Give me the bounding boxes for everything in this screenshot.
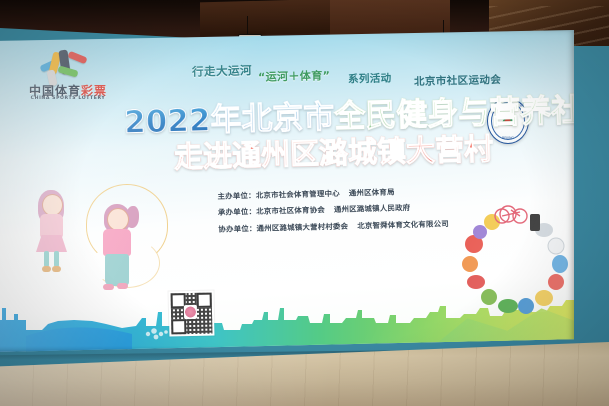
event-banner: 中国体育彩票 CHINA SPORTS LOTTERY 北京市社区运动会 BEI… <box>0 30 574 352</box>
kicker-walk-canal: 行走大运河 <box>192 62 252 79</box>
girl-top <box>103 229 131 256</box>
organizer-row: 承办单位：北京市社区体育协会通州区潞城镇人民政府 <box>218 202 449 219</box>
girl-shoe <box>103 284 114 290</box>
girl-pants <box>105 254 129 286</box>
organizer-value-2: 通州区体育局 <box>349 187 395 197</box>
girl-shoe <box>42 266 51 272</box>
organizer-label: 主办单位： <box>217 191 255 201</box>
screenshot-root: 中国体育彩票 CHINA SPORTS LOTTERY 北京市社区运动会 BEI… <box>0 0 609 406</box>
girl-face <box>42 194 63 216</box>
qr-pattern <box>171 293 213 335</box>
girl-shoe <box>52 266 61 272</box>
organizer-value-1: 北京市社区体育协会 <box>256 206 325 217</box>
organizer-label: 承办单位： <box>218 207 256 217</box>
banner-kicker-row: 行走大运河 “运河＋体育” 系列活动 北京市社区运动会 <box>0 63 574 87</box>
organizer-row: 协办单位：通州区潞城镇大营村村委会北京智舜体育文化有限公司 <box>218 218 449 235</box>
wechat-qr-code[interactable] <box>169 291 215 337</box>
kicker-series-activity: 系列活动 <box>348 71 392 87</box>
girl-jumping-rope <box>90 184 164 310</box>
organizer-value-1: 通州区潞城镇大营村村委会 <box>256 221 348 232</box>
kicker-canal-sports: “运河＋体育” <box>258 67 331 85</box>
qr-logo-center <box>184 305 197 319</box>
girl-face <box>107 208 129 231</box>
banner-title-line-2: 走进通州区潞城镇大营村 <box>174 126 494 176</box>
healthy-living-ring <box>456 202 574 320</box>
organizer-value-2: 通州区潞城镇人民政府 <box>334 204 411 215</box>
logo-english-text: CHINA SPORTS LOTTERY <box>24 96 112 101</box>
emblem-bottom-text: BEIJING <box>488 136 528 140</box>
qr-finder-pattern <box>197 293 212 308</box>
organizer-block: 主办单位：北京市社会体育管理中心通州区体育局 承办单位：北京市社区体育协会通州区… <box>217 185 449 240</box>
organizer-value-2: 北京智舜体育文化有限公司 <box>357 219 449 230</box>
girl-leg <box>44 251 49 267</box>
girl-leg <box>54 251 59 267</box>
qr-finder-pattern <box>171 319 186 334</box>
organizer-row: 主办单位：北京市社会体育管理中心通州区体育局 <box>217 185 448 202</box>
organizer-label: 协办单位： <box>218 224 256 234</box>
organizer-value-1: 北京市社会体育管理中心 <box>256 189 340 200</box>
kids-illustration <box>32 178 162 318</box>
girl-top <box>40 214 63 238</box>
girl-shoe <box>117 283 128 289</box>
